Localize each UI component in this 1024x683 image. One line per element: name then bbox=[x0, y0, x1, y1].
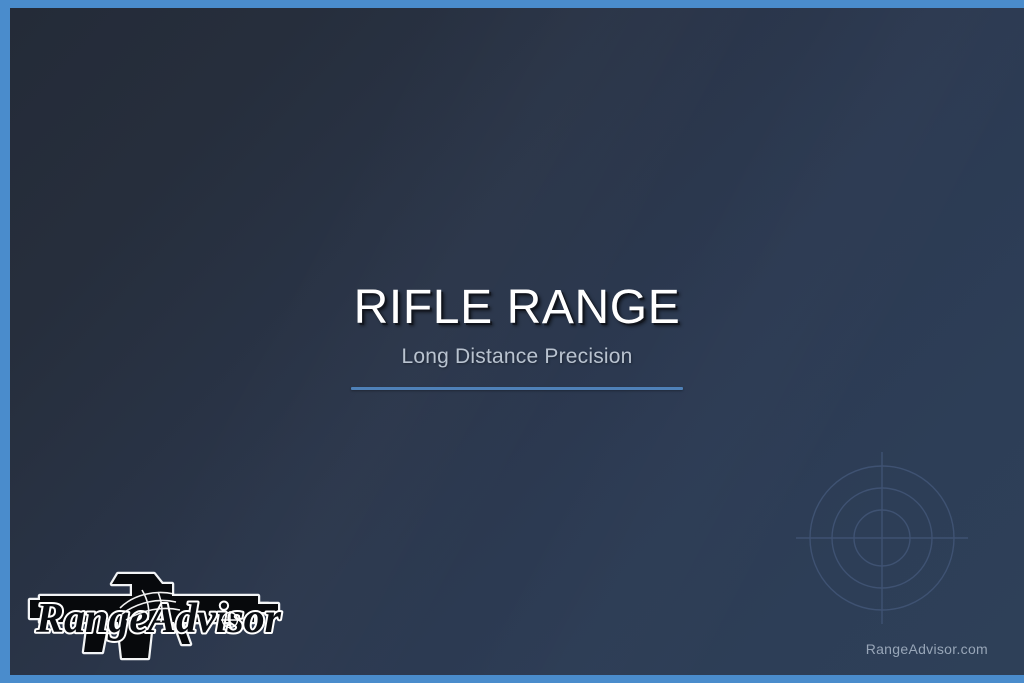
page-subtitle: Long Distance Precision bbox=[10, 346, 1024, 367]
svg-text:RangeAdvisor: RangeAdvisor bbox=[35, 596, 282, 642]
brand-logo: RangeAdvisor RangeAdvisor bbox=[22, 560, 284, 670]
site-watermark: RangeAdvisor.com bbox=[866, 641, 988, 657]
brand-wordmark: RangeAdvisor RangeAdvisor bbox=[35, 596, 282, 642]
slide-canvas: RIFLE RANGE Long Distance Precision bbox=[10, 8, 1024, 675]
page-title: RIFLE RANGE bbox=[10, 284, 1024, 332]
title-block: RIFLE RANGE Long Distance Precision bbox=[10, 284, 1024, 390]
slide-frame: RIFLE RANGE Long Distance Precision bbox=[0, 0, 1024, 683]
title-underline-rule bbox=[351, 387, 683, 390]
crosshair-target-icon bbox=[794, 450, 970, 626]
